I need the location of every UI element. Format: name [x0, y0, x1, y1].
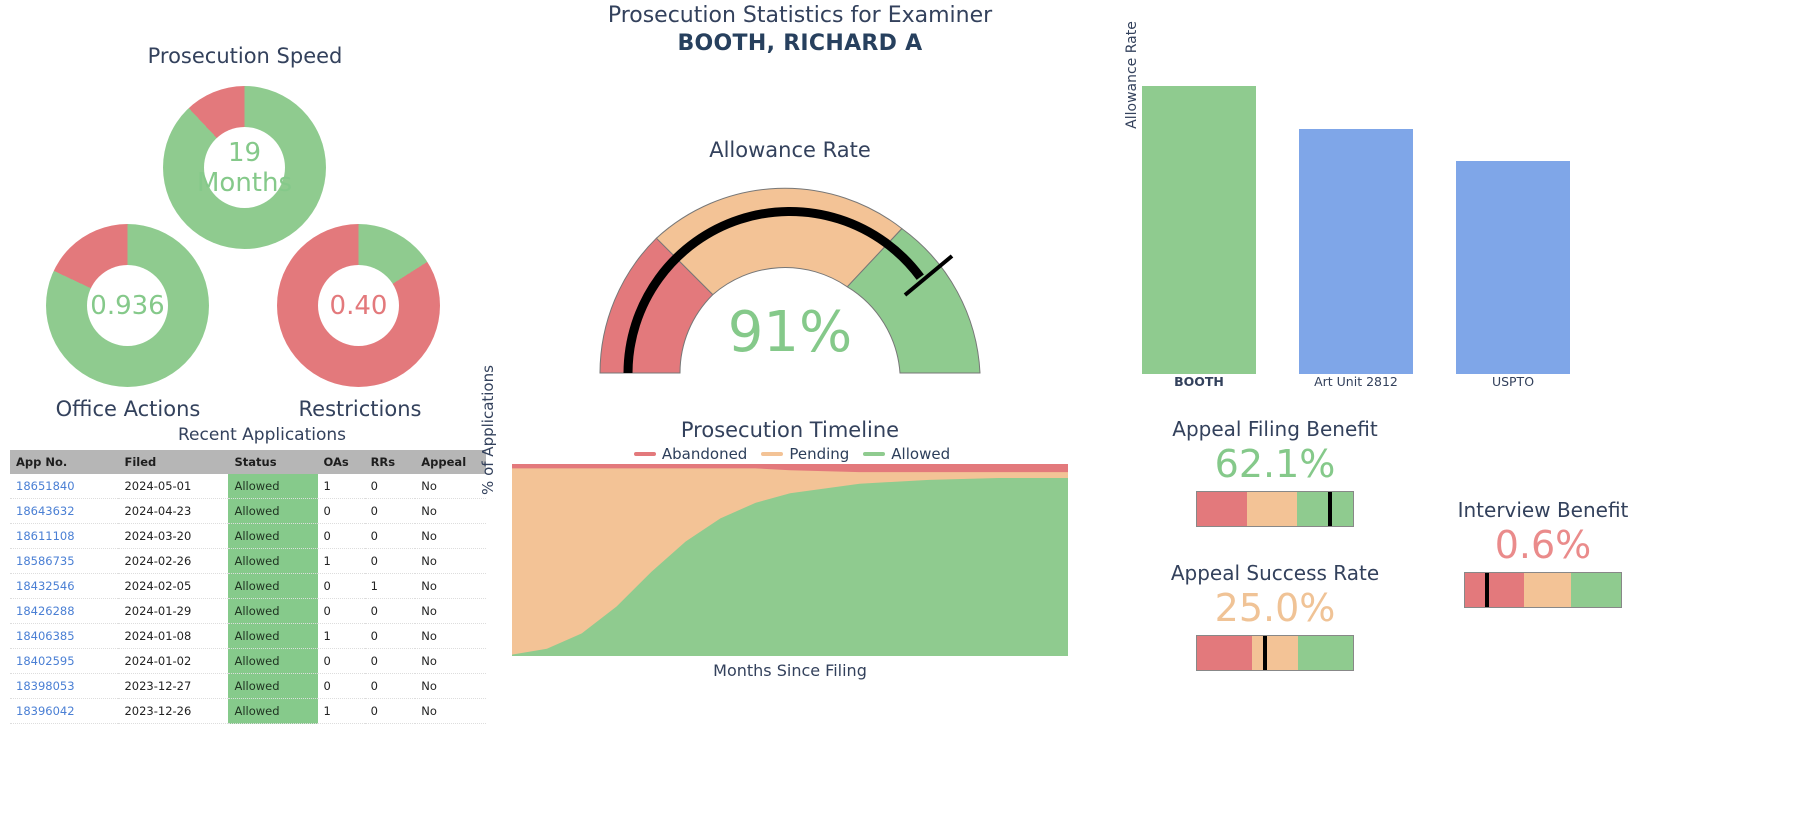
app-number-link[interactable]: 18396042 [16, 704, 75, 718]
timeline-plot [512, 464, 1068, 656]
table-row: 183980532023-12-27Allowed00No [10, 674, 486, 699]
cell-filed: 2024-01-08 [118, 624, 228, 649]
cell-status: Allowed [228, 574, 317, 599]
dashboard-root: Prosecution Statistics for Examiner BOOT… [0, 0, 1800, 829]
legend-label-abandoned: Abandoned [662, 445, 747, 463]
cell-appeal: No [415, 499, 486, 524]
cell-status: Allowed [228, 624, 317, 649]
app-number-link[interactable]: 18651840 [16, 479, 75, 493]
cell-rrs: 0 [365, 674, 416, 699]
column-header-appeal[interactable]: Appeal [415, 450, 486, 474]
restrictions-label: Restrictions [260, 397, 460, 421]
app-number-link[interactable]: 18643632 [16, 504, 75, 518]
app-number-link[interactable]: 18406385 [16, 629, 75, 643]
cell-status: Allowed [228, 549, 317, 574]
timeline-y-axis-label: % of Applications [479, 360, 497, 500]
cell-rrs: 0 [365, 599, 416, 624]
cell-filed: 2024-01-02 [118, 649, 228, 674]
bullet-band-low [1197, 636, 1252, 670]
cell-status: Allowed [228, 699, 317, 724]
cell-oas: 0 [318, 599, 365, 624]
comparison-label-0: BOOTH [1142, 374, 1256, 389]
legend-swatch-allowed [863, 452, 885, 456]
cell-appeal: No [415, 524, 486, 549]
office-actions-label: Office Actions [28, 397, 228, 421]
legend-item-allowed[interactable]: Allowed [863, 445, 950, 463]
bullet-band-mid [1252, 636, 1299, 670]
cell-app-no[interactable]: 18396042 [10, 699, 118, 724]
interview-benefit-bullet [1464, 572, 1622, 608]
timeline-legend: Abandoned Pending Allowed [512, 445, 1072, 463]
cell-oas: 0 [318, 499, 365, 524]
cell-status: Allowed [228, 599, 317, 624]
appeal-filing-benefit-title: Appeal Filing Benefit [1110, 417, 1440, 441]
comparison-bars [1142, 86, 1570, 374]
cell-oas: 1 [318, 699, 365, 724]
cell-app-no[interactable]: 18406385 [10, 624, 118, 649]
cell-rrs: 0 [365, 699, 416, 724]
column-header-app-no[interactable]: App No. [10, 450, 118, 474]
cell-appeal: No [415, 574, 486, 599]
cell-app-no[interactable]: 18432546 [10, 574, 118, 599]
bullet-band-mid [1247, 492, 1297, 526]
comparison-bar-1 [1299, 129, 1413, 374]
office-actions-donut-center: 0.936 [87, 265, 168, 346]
cell-appeal: No [415, 649, 486, 674]
office-actions-donut: 0.936 [46, 224, 209, 387]
speed-donut-unit: Months [197, 168, 292, 198]
cell-filed: 2024-02-05 [118, 574, 228, 599]
cell-rrs: 0 [365, 524, 416, 549]
table-row: 184063852024-01-08Allowed10No [10, 624, 486, 649]
speed-donut-center: 19 Months [204, 127, 285, 208]
app-number-link[interactable]: 18402595 [16, 654, 75, 668]
page-title-line2: BOOTH, RICHARD A [560, 30, 1040, 58]
office-actions-donut-value: 0.936 [90, 291, 164, 321]
cell-status: Allowed [228, 649, 317, 674]
legend-label-allowed: Allowed [891, 445, 950, 463]
cell-oas: 1 [318, 549, 365, 574]
cell-rrs: 0 [365, 474, 416, 499]
cell-appeal: No [415, 474, 486, 499]
cell-app-no[interactable]: 18426288 [10, 599, 118, 624]
bullet-band-high [1297, 492, 1353, 526]
cell-status: Allowed [228, 499, 317, 524]
cell-appeal: No [415, 674, 486, 699]
allowance-gauge-value: 91% [595, 300, 985, 365]
table-row: 186111082024-03-20Allowed00No [10, 524, 486, 549]
timeline-title: Prosecution Timeline [560, 418, 1020, 442]
cell-status: Allowed [228, 474, 317, 499]
cell-rrs: 0 [365, 649, 416, 674]
bullet-marker [1263, 636, 1267, 670]
legend-swatch-abandoned [634, 452, 656, 456]
page-title: Prosecution Statistics for Examiner BOOT… [560, 2, 1040, 58]
column-header-rrs[interactable]: RRs [365, 450, 416, 474]
restrictions-donut-center: 0.40 [318, 265, 399, 346]
column-header-status[interactable]: Status [228, 450, 317, 474]
table-row: 186518402024-05-01Allowed10No [10, 474, 486, 499]
cell-appeal: No [415, 624, 486, 649]
table-header-row: App No. Filed Status OAs RRs Appeal [10, 450, 486, 474]
bullet-band-mid [1524, 573, 1571, 607]
app-number-link[interactable]: 18398053 [16, 679, 75, 693]
bullet-band-low [1197, 492, 1247, 526]
appeal-filing-benefit-value: 62.1% [1110, 441, 1440, 487]
comparison-label-1: Art Unit 2812 [1299, 374, 1413, 389]
cell-filed: 2023-12-27 [118, 674, 228, 699]
comparison-label-2: USPTO [1456, 374, 1570, 389]
comparison-y-axis-label: Allowance Rate [1124, 10, 1140, 140]
page-title-line1: Prosecution Statistics for Examiner [560, 2, 1040, 30]
cell-rrs: 0 [365, 499, 416, 524]
cell-appeal: No [415, 699, 486, 724]
cell-oas: 1 [318, 474, 365, 499]
app-number-link[interactable]: 18426288 [16, 604, 75, 618]
cell-app-no[interactable]: 18643632 [10, 499, 118, 524]
cell-app-no[interactable]: 18586735 [10, 549, 118, 574]
cell-rrs: 0 [365, 549, 416, 574]
legend-label-pending: Pending [789, 445, 849, 463]
cell-appeal: No [415, 549, 486, 574]
table-row: 184262882024-01-29Allowed00No [10, 599, 486, 624]
app-number-link[interactable]: 18586735 [16, 554, 75, 568]
table-row: 184325462024-02-05Allowed01No [10, 574, 486, 599]
column-header-filed[interactable]: Filed [118, 450, 228, 474]
app-number-link[interactable]: 18432546 [16, 579, 75, 593]
cell-oas: 0 [318, 674, 365, 699]
cell-filed: 2024-04-23 [118, 499, 228, 524]
interview-benefit-title: Interview Benefit [1378, 498, 1708, 522]
cell-filed: 2024-01-29 [118, 599, 228, 624]
allowance-gauge-title: Allowance Rate [595, 138, 985, 162]
timeline-x-axis-label: Months Since Filing [512, 661, 1068, 680]
bullet-band-high [1298, 636, 1353, 670]
appeal-success-rate-bullet [1196, 635, 1354, 671]
comparison-bar-0 [1142, 86, 1256, 374]
cell-app-no[interactable]: 18402595 [10, 649, 118, 674]
bullet-marker [1485, 573, 1489, 607]
cell-oas: 0 [318, 649, 365, 674]
restrictions-donut: 0.40 [277, 224, 440, 387]
legend-swatch-pending [761, 452, 783, 456]
cell-oas: 1 [318, 624, 365, 649]
bullet-band-low [1465, 573, 1524, 607]
recent-applications-table: App No. Filed Status OAs RRs Appeal 1865… [10, 450, 486, 724]
cell-rrs: 1 [365, 574, 416, 599]
cell-app-no[interactable]: 18611108 [10, 524, 118, 549]
cell-status: Allowed [228, 524, 317, 549]
cell-appeal: No [415, 599, 486, 624]
cell-app-no[interactable]: 18398053 [10, 674, 118, 699]
comparison-bar-labels: BOOTHArt Unit 2812USPTO [1142, 374, 1570, 394]
interview-benefit-panel: Interview Benefit 0.6% [1378, 498, 1708, 608]
cell-filed: 2024-02-26 [118, 549, 228, 574]
cell-filed: 2023-12-26 [118, 699, 228, 724]
timeline-area-svg [512, 464, 1068, 656]
recent-applications-title: Recent Applications [72, 425, 452, 445]
table-row: 186436322024-04-23Allowed00No [10, 499, 486, 524]
bullet-marker [1328, 492, 1332, 526]
legend-item-pending[interactable]: Pending [761, 445, 849, 463]
legend-item-abandoned[interactable]: Abandoned [634, 445, 747, 463]
cell-filed: 2024-03-20 [118, 524, 228, 549]
cell-oas: 0 [318, 524, 365, 549]
comparison-bar-2 [1456, 161, 1570, 374]
appeal-filing-benefit-bullet [1196, 491, 1354, 527]
cell-filed: 2024-05-01 [118, 474, 228, 499]
cell-rrs: 0 [365, 624, 416, 649]
table-row: 183960422023-12-26Allowed10No [10, 699, 486, 724]
column-header-oas[interactable]: OAs [318, 450, 365, 474]
cell-status: Allowed [228, 674, 317, 699]
table-row: 185867352024-02-26Allowed10No [10, 549, 486, 574]
speed-donut-value: 19 [228, 138, 261, 168]
bullet-band-high [1571, 573, 1621, 607]
interview-benefit-value: 0.6% [1378, 522, 1708, 568]
table-row: 184025952024-01-02Allowed00No [10, 649, 486, 674]
cell-app-no[interactable]: 18651840 [10, 474, 118, 499]
speed-donut: 19 Months [163, 86, 326, 249]
restrictions-donut-value: 0.40 [330, 291, 388, 321]
cell-oas: 0 [318, 574, 365, 599]
app-number-link[interactable]: 18611108 [16, 529, 75, 543]
prosecution-speed-title: Prosecution Speed [100, 44, 390, 68]
